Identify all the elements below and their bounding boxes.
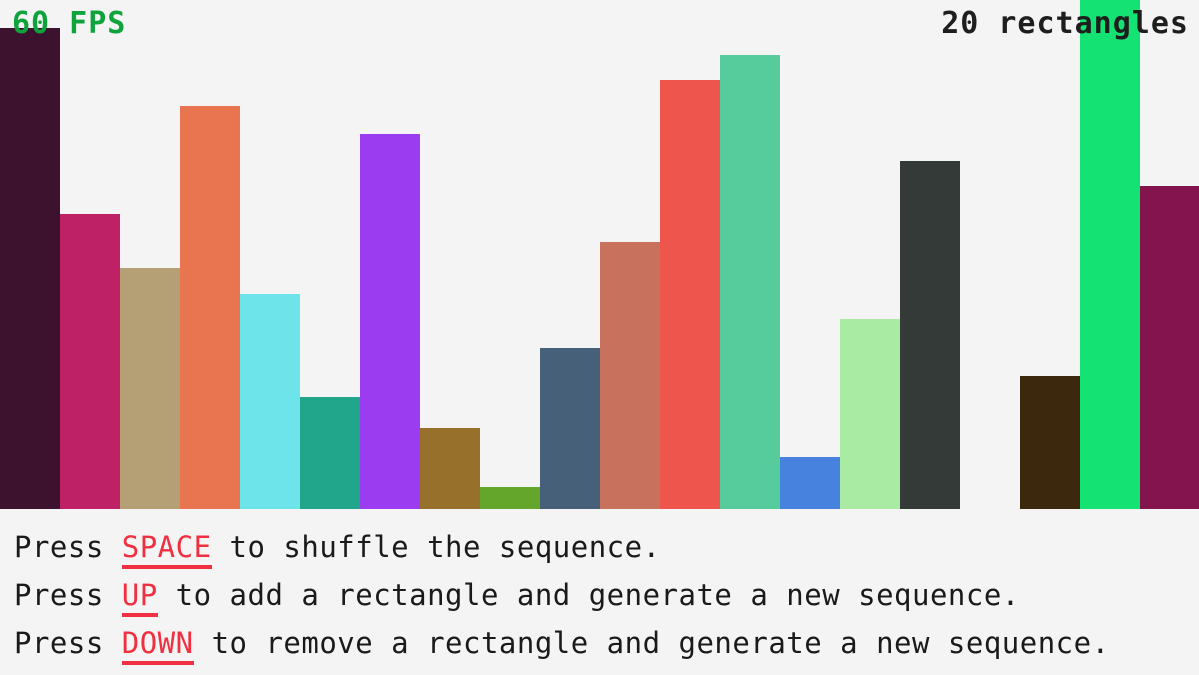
bar-14 — [780, 457, 840, 509]
bar-3 — [120, 268, 180, 509]
instruction-suffix: to add a rectangle and generate a new se… — [158, 578, 1020, 612]
bar-12 — [660, 80, 720, 509]
bar-7 — [360, 134, 420, 509]
bar-11 — [600, 242, 660, 509]
instructions-panel: Press SPACE to shuffle the sequence.Pres… — [0, 509, 1199, 675]
key-up[interactable]: UP — [122, 578, 158, 617]
bar-5 — [240, 294, 300, 509]
instruction-prefix: Press — [14, 578, 122, 612]
bar-6 — [300, 397, 360, 509]
bar-18 — [1020, 376, 1080, 509]
bar-9 — [480, 487, 540, 509]
bar-4 — [180, 106, 240, 509]
bar-13 — [720, 55, 780, 509]
key-space[interactable]: SPACE — [122, 530, 212, 569]
rectangle-sequence-app: 60 FPS 20 rectangles Press SPACE to shuf… — [0, 0, 1199, 675]
bar-2 — [60, 214, 120, 509]
bar-19 — [1080, 0, 1140, 509]
rectangle-count-label: 20 rectangles — [941, 9, 1189, 39]
bar-15 — [840, 319, 900, 509]
fps-counter: 60 FPS — [12, 9, 126, 39]
instruction-suffix: to shuffle the sequence. — [212, 530, 661, 564]
bar-8 — [420, 428, 480, 509]
bar-chart-canvas[interactable] — [0, 0, 1199, 509]
instruction-line-2: Press UP to add a rectangle and generate… — [14, 571, 1199, 619]
instruction-line-3: Press DOWN to remove a rectangle and gen… — [14, 619, 1199, 667]
bar-20 — [1140, 186, 1199, 509]
bar-10 — [540, 348, 600, 509]
instruction-prefix: Press — [14, 530, 122, 564]
instruction-suffix: to remove a rectangle and generate a new… — [194, 626, 1110, 660]
key-down[interactable]: DOWN — [122, 626, 194, 665]
bar-1 — [0, 28, 60, 509]
instruction-line-1: Press SPACE to shuffle the sequence. — [14, 523, 1199, 571]
instruction-prefix: Press — [14, 626, 122, 660]
bar-16 — [900, 161, 960, 509]
